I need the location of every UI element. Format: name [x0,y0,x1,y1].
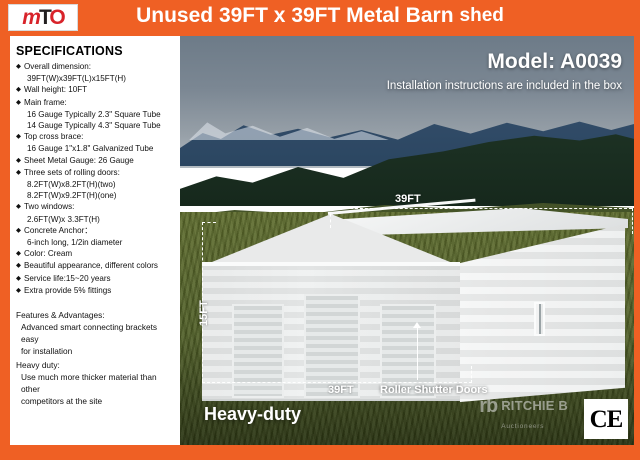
logo-letter-t: T [39,6,49,29]
rb-wordmark: RITCHIE B Auctioneers [501,397,568,433]
mto-logo-text: mTO [22,7,63,28]
spec-subitem: 14 Gauge Typically 4.3" Square Tube [16,120,176,131]
spec-subitem: 8.2FT(W)x8.2FT(H)(two) [16,179,176,190]
spec-item: Three sets of rolling doors: [16,167,176,179]
spec-item: Concrete Anchor： [16,225,176,237]
poster-root: Unused 39FT x 39FT Metal Barn shed mTO S… [0,0,640,460]
specifications-list: Overall dimension:39FT(W)x39FT(L)x15FT(H… [16,61,176,297]
page-title-main: Unused 39FT x 39FT Metal Barn [136,4,453,28]
spec-subitem: 39FT(W)x39FT(L)x15FT(H) [16,73,176,84]
model-number: Model: A0039 [487,50,622,74]
features-heading: Features & Advantages: [16,309,176,321]
installation-note: Installation instructions are included i… [387,80,622,92]
spec-subitem: 6-inch long, 1/2in diameter [16,237,176,248]
spec-subitem: 16 Gauge Typically 2.3" Square Tube [16,109,176,120]
logo-letter-m: m [22,6,39,29]
heavy-duty-caption: Heavy-duty [204,404,301,425]
ce-mark-badge: CE [584,399,628,439]
spec-item: Extra provide 5% fittings [16,285,176,297]
heavy-duty-heading: Heavy duty: [16,359,176,371]
mto-logo: mTO [8,4,78,31]
rb-name-text: RITCHIE B [501,398,568,413]
spec-item: Overall dimension: [16,61,176,73]
spec-item: Beautiful appearance, different colors [16,260,176,272]
poster-body: SPECIFICATIONS Overall dimension:39FT(W)… [6,34,634,449]
poster-header: Unused 39FT x 39FT Metal Barn shed mTO [0,0,640,32]
specifications-heading: SPECIFICATIONS [16,44,176,58]
spec-item: Color: Cream [16,248,176,260]
spec-subitem: 2.6FT(W)x 3.3FT(H) [16,214,176,225]
ce-mark-text: CE [590,407,623,432]
spec-item: Main frame: [16,97,176,109]
spec-spacer [16,297,176,307]
roller-door-center [304,294,360,398]
product-photo: 39FT 15FT 39FT Roller Shutter Doors Mode… [180,36,634,447]
side-window [534,302,545,336]
heavy-duty-line: Use much more thicker material than othe… [16,371,176,395]
roller-door-left [232,304,284,398]
barn-eave [202,262,460,266]
spec-item: Wall height: 10FT [16,84,176,96]
spec-item: Top cross brace: [16,131,176,143]
spec-item: Service life:15~20 years [16,273,176,285]
rb-logo-icon: rb [479,397,497,415]
spec-item: Sheet Metal Gauge: 26 Gauge [16,155,176,167]
page-title-suffix: shed [460,5,504,27]
spec-subitem: 8.2FT(W)x9.2FT(H)(one) [16,190,176,201]
heavy-duty-line: competitors at the site [16,395,176,407]
page-title: Unused 39FT x 39FT Metal Barn shed [0,0,640,32]
ritchie-bros-watermark: rb RITCHIE B Auctioneers [479,397,568,433]
rb-sub-text: Auctioneers [501,423,544,430]
metal-barn [180,36,634,447]
spec-item: Two windows: [16,201,176,213]
features-line: for installation [16,345,176,357]
logo-letter-o: O [49,6,63,29]
specifications-panel: SPECIFICATIONS Overall dimension:39FT(W)… [10,36,180,447]
spec-subitem: 16 Gauge 1"x1.8" Galvanized Tube [16,143,176,154]
features-line: Advanced smart connecting brackets easy [16,321,176,345]
roller-door-right [380,304,436,398]
